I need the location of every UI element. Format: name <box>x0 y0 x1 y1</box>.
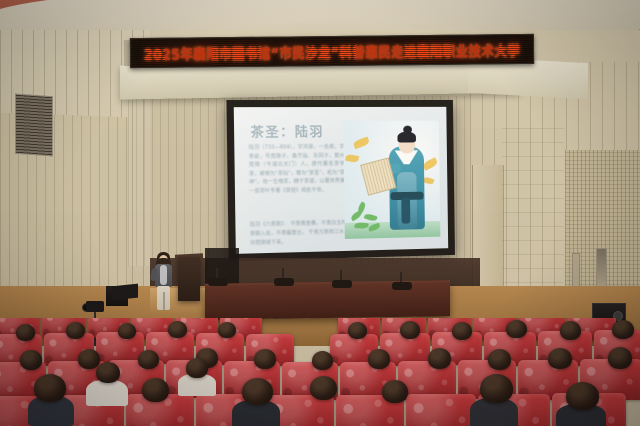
audience-head <box>66 322 85 339</box>
audience-head <box>186 358 208 378</box>
audience-head <box>168 321 187 338</box>
left-stage-monitor <box>112 284 138 301</box>
video-camera <box>86 301 104 312</box>
auditorium-photo: 2025年襄阳市图书馆“市民沙龙”科普惠民走进襄阳职业技术大学 茶圣：陆羽 陆羽… <box>0 0 640 426</box>
microphone-2 <box>274 278 294 286</box>
audience-head <box>548 348 572 369</box>
microphone-3 <box>332 280 352 288</box>
audience-head <box>382 380 408 403</box>
audience-head <box>242 378 273 405</box>
audience-head <box>16 324 35 341</box>
audience-head <box>368 349 390 369</box>
audience-head <box>254 349 276 369</box>
tea-leaf-4 <box>354 222 368 230</box>
audience-head <box>488 349 511 370</box>
audience-head <box>400 321 420 339</box>
illustration-hair-bun <box>403 126 412 134</box>
audience-seating <box>0 318 640 426</box>
audience-head <box>348 322 367 339</box>
audience-head <box>452 322 472 340</box>
audience-head <box>612 320 634 339</box>
audience-head <box>142 378 169 402</box>
audience-head <box>218 322 236 338</box>
audience-head <box>312 351 333 370</box>
audience-head <box>34 374 66 402</box>
audience-head <box>480 374 513 403</box>
projection-screen-frame: 茶圣：陆羽 陆羽（733—804），字鸿渐，一名疾，字季疵，号竟陵子、桑苎翁、东… <box>226 100 455 261</box>
speaker-vest-highlight <box>160 265 167 285</box>
podium <box>178 257 200 301</box>
audience-head <box>506 320 527 338</box>
illustration-sash-tail <box>401 198 410 224</box>
microphone-4 <box>392 282 412 290</box>
audience-shoulders-light <box>86 380 128 406</box>
audience-head <box>138 350 159 369</box>
wall-recess-slot <box>596 248 607 290</box>
slide-title: 茶圣：陆羽 <box>250 121 324 141</box>
slide-poem-text: 陆羽《六羡歌》： 不羡黄金罍，不羡白玉杯， 不羡朝入省，不羡暮登台， 千羡万羡西… <box>250 219 359 248</box>
led-banner-text: 2025年襄阳市图书馆“市民沙龙”科普惠民走进襄阳职业技术大学 <box>144 38 520 64</box>
projection-screen-surface: 茶圣：陆羽 陆羽（733—804），字鸿渐，一名疾，字季疵，号竟陵子、桑苎翁、东… <box>234 107 448 254</box>
tea-leaf-5 <box>368 223 381 232</box>
audience-head <box>78 349 100 369</box>
audience-head <box>118 323 136 339</box>
audience-head <box>560 321 581 340</box>
led-banner: 2025年襄阳市图书馆“市民沙龙”科普惠民走进襄阳职业技术大学 <box>130 34 534 68</box>
slide-illustration <box>343 121 440 239</box>
audience-head <box>608 347 632 369</box>
vent-grille-icon <box>15 94 53 157</box>
tea-leaf-2 <box>356 201 366 213</box>
stage-table <box>205 282 450 319</box>
illustration-tea-plant <box>348 202 384 233</box>
microphone-1 <box>208 278 228 286</box>
audience-head <box>310 376 337 400</box>
slide-body-text: 陆羽（733—804），字鸿渐，一名疾，字季疵，号竟陵子、桑苎翁、东冈子，复州竟… <box>249 143 346 196</box>
tea-leaf-3 <box>364 213 378 223</box>
seat <box>406 394 476 426</box>
audience-head <box>20 350 42 370</box>
audience-head <box>96 362 120 383</box>
speaker-leg-seam <box>163 292 165 310</box>
audience-head <box>566 382 599 410</box>
audience-head <box>428 348 451 369</box>
